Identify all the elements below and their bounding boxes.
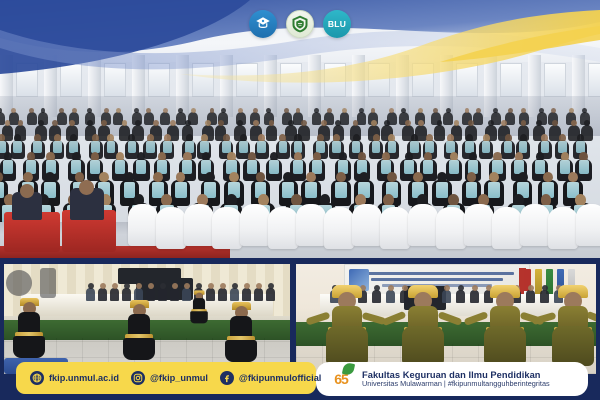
seated-official [98, 288, 107, 301]
window [60, 63, 82, 97]
graduate-head [185, 120, 191, 126]
white-chair [492, 207, 522, 249]
graduation-sash [115, 160, 125, 174]
seated-official-head [220, 283, 226, 289]
graduation-sash [128, 141, 137, 153]
seated-official-head [444, 285, 450, 291]
seated-official-head [388, 285, 394, 291]
graduation-sash [465, 141, 474, 153]
faculty-subtitle: Universitas Mulawarman | #fkipunmultangg… [362, 380, 550, 388]
window [324, 63, 346, 97]
seated-official-head [528, 285, 534, 291]
graduation-sash [410, 141, 419, 153]
dancer [324, 292, 370, 366]
seated-official-head [244, 283, 250, 289]
white-chair [576, 204, 600, 246]
graduation-sash [335, 182, 347, 198]
white-chair [380, 207, 410, 249]
graduation-sash [466, 182, 478, 198]
speaker [40, 268, 56, 298]
graduate [473, 112, 483, 125]
graduate-head [52, 120, 58, 126]
anniversary-number: 65 [328, 366, 354, 392]
graduate-head [552, 120, 558, 126]
white-chair [156, 207, 186, 249]
graduation-sash [423, 160, 433, 174]
silat-performer [190, 293, 209, 324]
graduation-sash [200, 141, 209, 153]
graduation-sash [352, 141, 361, 153]
graduate-head [371, 120, 377, 126]
seated-official-head [458, 285, 464, 291]
seated-official [170, 288, 179, 301]
seated-official-head [196, 283, 202, 289]
graduation-sash [482, 141, 491, 153]
graduation-sash [33, 141, 42, 153]
pencak-silat-performance-photo [4, 264, 290, 374]
seated-official [218, 288, 227, 301]
graduation-sash [182, 160, 192, 174]
graduation-sash [222, 141, 231, 153]
graduate-head [418, 108, 423, 113]
graduate-head [387, 172, 397, 182]
vip-head [79, 180, 94, 195]
graduation-sash [3, 160, 13, 174]
graduation-ceremony-photo: BLU [0, 0, 600, 258]
graduation-sash [91, 141, 100, 153]
graduation-sash [69, 141, 78, 153]
graduation-sash [107, 141, 116, 153]
graduation-sash [124, 182, 136, 198]
graduation-sash [541, 141, 550, 153]
seated-official [266, 288, 275, 301]
graduate [144, 112, 154, 125]
window [412, 63, 434, 97]
white-chair [296, 204, 326, 246]
vip-head [20, 184, 34, 198]
seated-official [386, 290, 395, 303]
standing-fan [6, 270, 32, 296]
graduate-head [508, 108, 513, 113]
facebook-icon [220, 371, 234, 385]
graduate-head [405, 120, 411, 126]
kemdikbud-logo [249, 10, 277, 38]
graduate-head [221, 108, 226, 113]
graduation-sash [449, 160, 459, 174]
graduate-head [359, 172, 369, 182]
seated-official [86, 288, 95, 301]
social-media-bar: fkip.unmul.ac.id @fkip_unmul @fkipunmulo… [16, 362, 316, 394]
seated-official-head [268, 283, 274, 289]
graduate-head [476, 108, 481, 113]
unmul-logo [286, 10, 314, 38]
graduation-sash [90, 160, 100, 174]
graduate-head [104, 108, 109, 113]
graduate-head [543, 172, 553, 182]
photo-strip [0, 264, 600, 376]
graduate-head [288, 120, 294, 126]
seated-official-head [472, 285, 478, 291]
seated-official [122, 288, 131, 301]
graduate-head [518, 172, 528, 182]
graduate-head [163, 108, 168, 113]
graduation-sash [332, 141, 341, 153]
graduate-head [253, 108, 258, 113]
silat-performer [12, 302, 46, 358]
website-handle: fkip.unmul.ac.id [49, 373, 119, 383]
window [588, 63, 600, 97]
faculty-text-block: Fakultas Keguruan dan Ilmu Pendidikan Un… [362, 370, 550, 389]
anniversary-65-logo: 65 [328, 366, 354, 392]
graduation-sash [535, 160, 545, 174]
graduation-sash [163, 141, 172, 153]
window [236, 63, 258, 97]
seated-official-head [160, 283, 166, 289]
graduation-sash [247, 160, 257, 174]
graduation-sash [404, 160, 414, 174]
graduate [312, 112, 322, 125]
facebook-handle: @fkipunmulofficial [239, 373, 321, 383]
graduation-sash [136, 160, 146, 174]
window [148, 63, 170, 97]
white-chair [408, 204, 438, 246]
graduate-head [468, 120, 474, 126]
graduation-sash [0, 182, 4, 198]
seated-official-head [100, 283, 106, 289]
seated-official-head [136, 283, 142, 289]
top-logo-row: BLU [0, 8, 600, 40]
window [456, 63, 478, 97]
seated-official-head [172, 283, 178, 289]
seated-official [158, 288, 167, 301]
seated-official [540, 290, 549, 303]
instagram-icon [131, 371, 145, 385]
seated-official [456, 290, 465, 303]
graduation-sash [576, 141, 585, 153]
graduate-head [568, 172, 578, 182]
white-chair [464, 204, 494, 246]
seated-official-head [374, 285, 380, 291]
window [16, 63, 38, 97]
window [500, 63, 522, 97]
graduation-sash [388, 141, 397, 153]
blu-logo-text: BLU [328, 19, 346, 29]
white-chair [212, 207, 242, 249]
window [544, 63, 566, 97]
graduate [27, 112, 37, 125]
graduation-sash [257, 141, 266, 153]
graduation-sash [294, 141, 303, 153]
white-chair [268, 207, 298, 249]
seated-official-head [148, 283, 154, 289]
graduation-sash [0, 141, 6, 153]
graduation-sash [305, 182, 317, 198]
graduation-sash [504, 141, 513, 153]
seated-official-head [88, 283, 94, 289]
seated-official-head [256, 283, 262, 289]
graduation-sash [579, 160, 589, 174]
seated-official-head [542, 285, 548, 291]
graduate-head [135, 120, 141, 126]
seated-official-head [184, 283, 190, 289]
graduation-sash [372, 141, 381, 153]
graduate-head [101, 120, 107, 126]
graduation-sash [425, 141, 434, 153]
graduate-head [229, 172, 239, 182]
white-chair [184, 204, 214, 246]
seated-official [470, 290, 479, 303]
dancer [550, 292, 596, 366]
dancer [400, 292, 446, 366]
white-chair [520, 204, 550, 246]
traditional-dance-performance-photo [296, 264, 596, 374]
poster-root: BLU [0, 0, 600, 400]
graduation-sash [293, 160, 303, 174]
social-item-instagram[interactable]: @fkip_unmul [131, 371, 208, 385]
graduate-head [569, 108, 574, 113]
silat-performer [224, 306, 258, 362]
seated-official [110, 288, 119, 301]
blu-logo: BLU [323, 10, 351, 38]
white-chair [548, 207, 578, 249]
graduate-head [38, 120, 44, 126]
graduation-sash [53, 141, 62, 153]
globe-icon [30, 371, 44, 385]
seated-official-head [208, 283, 214, 289]
window [368, 63, 390, 97]
graduate-head [301, 120, 307, 126]
graduate-head [551, 108, 556, 113]
window [104, 63, 126, 97]
dancer [482, 292, 528, 366]
graduation-sash [239, 141, 248, 153]
graduation-sash [558, 141, 567, 153]
seated-official [254, 288, 263, 301]
seated-official [230, 288, 239, 301]
graduate [434, 125, 446, 141]
window [192, 63, 214, 97]
graduation-sash [279, 141, 288, 153]
graduate-head [446, 108, 451, 113]
graduation-sash [436, 182, 448, 198]
graduate-head [253, 120, 259, 126]
seated-official-head [112, 283, 118, 289]
graduation-sash [175, 182, 187, 198]
white-chair [240, 204, 270, 246]
seated-official-head [232, 283, 238, 289]
graduation-sash [269, 160, 279, 174]
graduation-sash [560, 160, 570, 174]
seated-official [242, 288, 251, 301]
graduate-head [191, 108, 196, 113]
graduate-head [116, 108, 121, 113]
white-chair [128, 204, 158, 246]
seated-official-head [124, 283, 130, 289]
graduate-head [437, 172, 447, 182]
graduate-head [72, 108, 77, 113]
seated-official [372, 290, 381, 303]
window [280, 63, 302, 97]
silat-performer [122, 304, 156, 360]
white-chair [436, 207, 466, 249]
social-item-facebook[interactable]: @fkipunmulofficial [220, 371, 321, 385]
graduate [266, 125, 278, 141]
graduation-sash [185, 141, 194, 153]
graduate-head [205, 120, 211, 126]
graduation-sash [488, 182, 500, 198]
white-chair [324, 207, 354, 249]
graduation-sash [13, 141, 22, 153]
graduate-head [218, 120, 224, 126]
graduation-sash [519, 141, 528, 153]
graduate [160, 112, 170, 125]
faculty-panel: 65 Fakultas Keguruan dan Ilmu Pendidikan… [316, 362, 588, 396]
graduate-head [489, 172, 499, 182]
graduate [57, 112, 67, 125]
graduation-sash [446, 141, 455, 153]
social-item-website[interactable]: fkip.unmul.ac.id [30, 371, 119, 385]
seated-official [146, 288, 155, 301]
white-chair [352, 204, 382, 246]
graduation-sash [316, 141, 325, 153]
graduate [443, 112, 453, 125]
instagram-handle: @fkip_unmul [150, 373, 208, 383]
graduation-sash [146, 141, 155, 153]
